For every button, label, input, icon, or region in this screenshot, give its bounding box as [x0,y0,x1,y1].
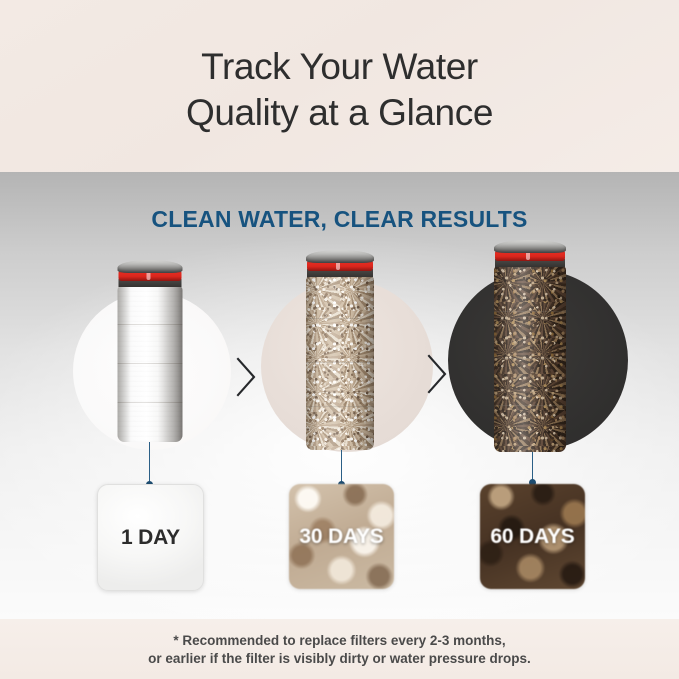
filter-cap-top [306,250,374,263]
stage-30-days: 30 DAYS [245,172,435,619]
stage-connector-line [341,450,342,484]
stage-label-card-30-days[interactable]: 30 DAYS [289,484,394,589]
filter-cartridge-tan [306,250,374,450]
main-panel: CLEAN WATER, CLEAR RESULTS 1 DAY [0,172,679,619]
filter-cap-top [494,240,566,253]
stage-label-card-60-days[interactable]: 60 DAYS [480,484,585,589]
filter-cap-top [118,260,183,273]
filter-cartridge-dark [494,240,566,452]
header-band: Track Your Water Quality at a Glance [0,0,679,172]
stage-label-text: 30 DAYS [299,525,383,549]
filter-cartridge-clean [118,260,183,442]
water-filter-infographic: Track Your Water Quality at a Glance CLE… [0,0,679,679]
stage-label-card-1-day[interactable]: 1 DAY [97,484,204,591]
filter-body-dark-sediment [494,266,566,452]
stage-label-text: 60 DAYS [490,525,574,549]
stage-connector-line [149,442,150,484]
stage-label-text: 1 DAY [121,526,180,550]
page-title: Track Your Water Quality at a Glance [0,44,679,136]
stage-60-days: 60 DAYS [435,172,625,619]
filter-body-clean [118,286,183,442]
filter-body-tan-sediment [306,276,374,450]
stage-1-day: 1 DAY [55,172,245,619]
footer-band: * Recommended to replace filters every 2… [0,619,679,679]
footer-disclaimer-note: * Recommended to replace filters every 2… [0,632,679,668]
